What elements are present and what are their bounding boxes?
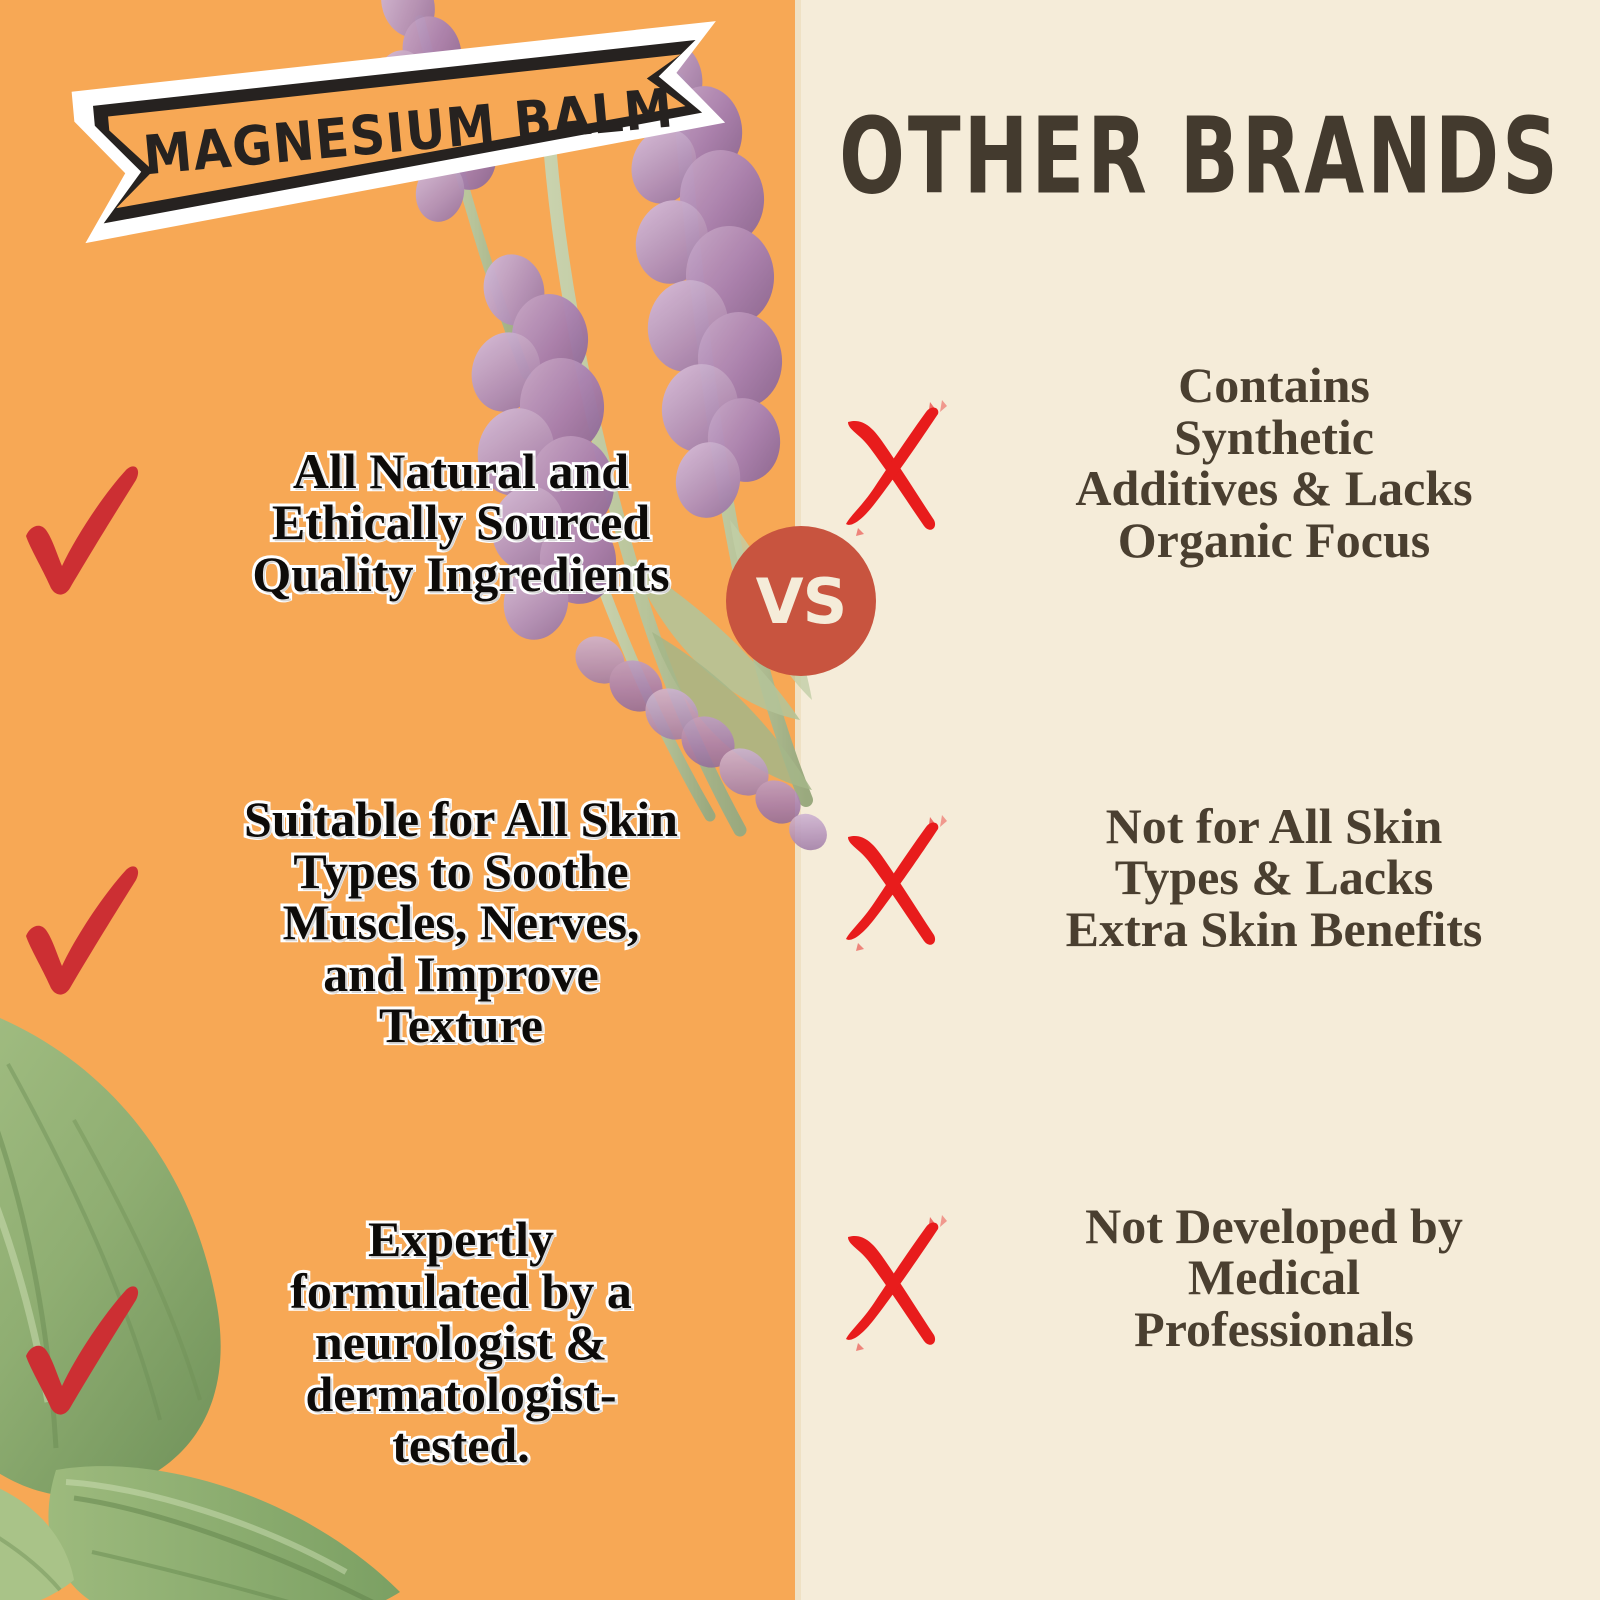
benefit-row: Expertly formulated by a neurologist & d…	[0, 1168, 800, 1518]
benefit-text: Suitable for All Skin Types to Soothe Mu…	[150, 794, 800, 1052]
text-line: Expertly	[150, 1214, 772, 1266]
text-line: Synthetic	[968, 412, 1580, 464]
vs-badge: VS	[726, 526, 876, 676]
drawback-row: Not Developed by Medical Professionals	[800, 1178, 1600, 1378]
other-brands-heading: OTHER BRANDS	[800, 96, 1600, 218]
text-line: Extra Skin Benefits	[968, 904, 1580, 956]
text-line: Types & Lacks	[968, 852, 1580, 904]
cross-icon	[818, 1203, 968, 1353]
check-icon	[0, 448, 150, 598]
text-line: Contains	[968, 360, 1580, 412]
text-line: and Improve	[150, 949, 772, 1001]
text-line: Additives & Lacks	[968, 463, 1580, 515]
text-line: All Natural and	[150, 446, 772, 498]
drawback-text: Not for All Skin Types & Lacks Extra Ski…	[968, 801, 1600, 956]
text-line: Organic Focus	[968, 515, 1580, 567]
text-line: Medical	[968, 1252, 1580, 1304]
cross-icon	[818, 388, 968, 538]
benefit-row: Suitable for All Skin Types to Soothe Mu…	[0, 768, 800, 1078]
benefit-text: Expertly formulated by a neurologist & d…	[150, 1214, 800, 1472]
comparison-poster: MAGNESIUM BALM VS OTHER BRANDS All Natur…	[0, 0, 1600, 1600]
drawback-text: Contains Synthetic Additives & Lacks Org…	[968, 360, 1600, 566]
drawback-row: Not for All Skin Types & Lacks Extra Ski…	[800, 778, 1600, 978]
text-line: Texture	[150, 1000, 772, 1052]
drawback-row: Contains Synthetic Additives & Lacks Org…	[800, 348, 1600, 578]
cross-icon	[818, 803, 968, 953]
text-line: Not Developed by	[968, 1201, 1580, 1253]
text-line: Quality Ingredients	[150, 549, 772, 601]
text-line: neurologist &	[150, 1317, 772, 1369]
text-line: Suitable for All Skin	[150, 794, 772, 846]
text-line: Not for All Skin	[968, 801, 1580, 853]
benefit-row: All Natural and Ethically Sourced Qualit…	[0, 428, 800, 618]
check-icon	[0, 848, 150, 998]
text-line: dermatologist-	[150, 1369, 772, 1421]
text-line: Professionals	[968, 1304, 1580, 1356]
vs-label: VS	[756, 565, 847, 638]
text-line: Muscles, Nerves,	[150, 897, 772, 949]
text-line: Types to Soothe	[150, 846, 772, 898]
text-line: formulated by a	[150, 1266, 772, 1318]
text-line: tested.	[150, 1420, 772, 1472]
check-icon	[0, 1268, 150, 1418]
drawback-text: Not Developed by Medical Professionals	[968, 1201, 1600, 1356]
benefit-text: All Natural and Ethically Sourced Qualit…	[150, 446, 800, 601]
text-line: Ethically Sourced	[150, 497, 772, 549]
